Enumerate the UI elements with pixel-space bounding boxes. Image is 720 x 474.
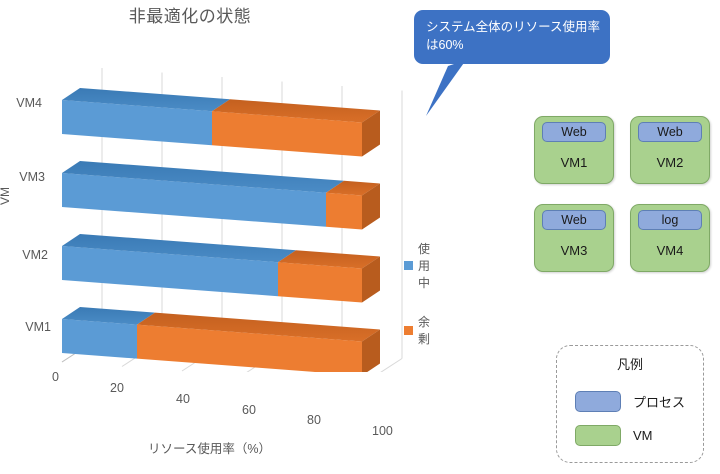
legend-item-vm: VM <box>575 425 653 446</box>
vm-box-vm4[interactable]: log VM4 <box>630 204 710 272</box>
legend-row-in-use: 使用中 <box>404 240 430 291</box>
legend-item-process: プロセス <box>575 391 685 412</box>
process-label-vm2: Web <box>638 122 702 142</box>
vm-label-vm1: VM1 <box>535 155 613 170</box>
ycat-vm4: VM4 <box>0 96 42 110</box>
legend-label-in-use: 使用中 <box>418 240 430 291</box>
chart-panel: 非最適化の状態 VM VM4 VM3 VM2 VM1 0 20 40 60 80… <box>0 0 430 474</box>
vm-box-vm3[interactable]: Web VM3 <box>534 204 614 272</box>
chart-series-legend: 使用中 余剰 <box>404 240 430 369</box>
legend-chip-vm <box>575 425 621 446</box>
vm-box-vm1[interactable]: Web VM1 <box>534 116 614 184</box>
callout-tail <box>396 60 466 120</box>
ycat-vm3: VM3 <box>3 170 45 184</box>
legend-box: 凡例 プロセス VM <box>556 345 704 463</box>
legend-swatch-in-use <box>404 261 413 270</box>
bar-VM3 <box>62 161 380 230</box>
legend-label-vm: VM <box>633 428 653 443</box>
legend-box-title: 凡例 <box>557 354 703 373</box>
plot-area <box>48 62 416 372</box>
process-label-vm3: Web <box>542 210 606 230</box>
legend-label-process: プロセス <box>633 392 685 411</box>
legend-row-surplus: 余剰 <box>404 313 430 347</box>
legend-swatch-surplus <box>404 326 413 335</box>
xtick-40: 40 <box>176 392 190 406</box>
callout-bubble: システム全体のリソース使用率は60% <box>414 10 610 64</box>
y-axis-title: VM <box>0 187 12 205</box>
process-label-vm4: log <box>638 210 702 230</box>
ycat-vm2: VM2 <box>6 248 48 262</box>
legend-label-surplus: 余剰 <box>418 313 430 347</box>
x-axis-title: リソース使用率（%） <box>148 438 271 457</box>
vm-label-vm2: VM2 <box>631 155 709 170</box>
legend-chip-process <box>575 391 621 412</box>
bar-VM1 <box>62 307 380 372</box>
xtick-100: 100 <box>372 424 393 438</box>
ycat-vm1: VM1 <box>9 320 51 334</box>
vm-box-vm2[interactable]: Web VM2 <box>630 116 710 184</box>
stacked-bar-3d-svg <box>48 62 416 372</box>
process-label-vm1: Web <box>542 122 606 142</box>
xtick-0: 0 <box>52 370 59 384</box>
xtick-60: 60 <box>242 403 256 417</box>
xtick-20: 20 <box>110 381 124 395</box>
bar-VM4 <box>62 88 380 157</box>
bar-VM2 <box>62 234 380 303</box>
xtick-80: 80 <box>307 413 321 427</box>
chart-title: 非最適化の状態 <box>0 2 380 27</box>
vm-label-vm3: VM3 <box>535 243 613 258</box>
vm-label-vm4: VM4 <box>631 243 709 258</box>
